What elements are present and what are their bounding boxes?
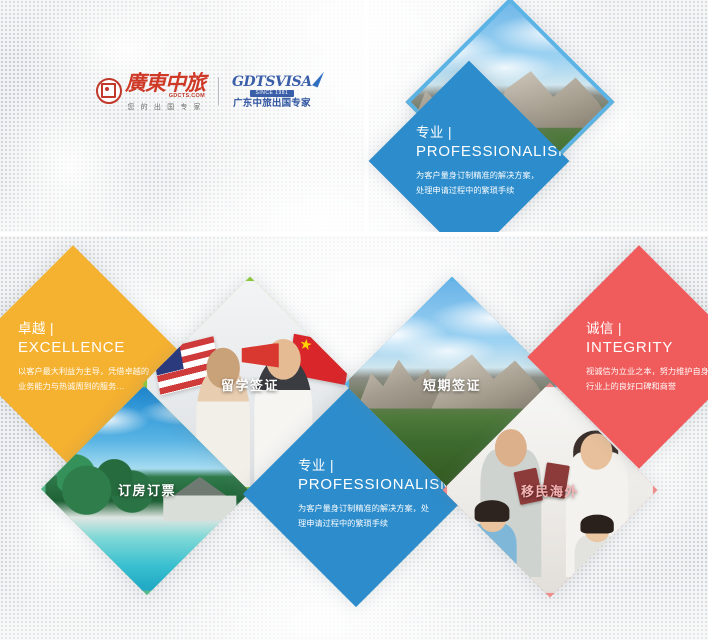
card-title-en: EXCELLENCE xyxy=(18,338,152,358)
card-title-cn: 专业 | xyxy=(298,458,334,473)
card-description: 为客户量身订制精准的解决方案，处理申请过程中的繁琐手续 xyxy=(416,168,540,198)
integrity-card-content: 诚信 | INTEGRITY 视诚信为立业之本，努力维护自身在行业上的良好口碑和… xyxy=(560,278,708,436)
card-title-en: PROFESSIONALISM xyxy=(298,475,436,495)
card-title-en: INTEGRITY xyxy=(586,338,708,358)
page-root: 廣東中旅 GDCTS.COM 您 的 出 国 专 家 GDTSVISA SINC… xyxy=(0,0,708,640)
bottom-panel: 卓越 | EXCELLENCE 以客户最大利益为主导，凭借卓越的业务能力与热诚周… xyxy=(0,236,708,640)
passport-icon-right xyxy=(541,462,569,498)
circular-red-seal-icon xyxy=(96,78,122,104)
megaphone-icon xyxy=(242,343,279,368)
guangdong-china-travel-logo[interactable]: 廣東中旅 GDCTS.COM 您 的 出 国 专 家 xyxy=(96,72,205,111)
card-title-cn: 卓越 | xyxy=(18,321,54,336)
card-title: 诚信 | INTEGRITY xyxy=(586,320,708,358)
brand-logo-lockup[interactable]: 廣東中旅 GDCTS.COM 您 的 出 国 专 家 GDTSVISA SINC… xyxy=(96,72,312,111)
logo-domain-text: GDCTS.COM xyxy=(125,94,205,100)
card-title: 专业 | PROFESSIONALISM xyxy=(416,124,540,162)
logo-separator xyxy=(218,77,219,105)
top-panel: 廣東中旅 GDCTS.COM 您 的 出 国 专 家 GDTSVISA SINC… xyxy=(0,0,708,232)
professionalism-card-top-content: 专业 | PROFESSIONALISM 为客户量身订制精准的解决方案，处理申请… xyxy=(398,90,540,232)
logo-left-text-stack: 廣東中旅 GDCTS.COM 您 的 出 国 专 家 xyxy=(125,72,205,111)
card-title: 卓越 | EXCELLENCE xyxy=(18,320,152,358)
card-description: 视诚信为立业之本，努力维护自身在行业上的良好口碑和商誉 xyxy=(586,364,708,394)
card-title-en: PROFESSIONALISM xyxy=(416,142,540,162)
card-description: 以客户最大利益为主导，凭借卓越的业务能力与热诚周到的服务… xyxy=(18,364,152,394)
logo-chinese-name: 廣東中旅 xyxy=(125,72,205,93)
card-title: 专业 | PROFESSIONALISM xyxy=(298,457,436,495)
logo-since-badge: SINCE 1981 xyxy=(250,90,295,97)
card-title-cn: 专业 | xyxy=(416,125,452,140)
logo-tagline: 您 的 出 国 专 家 xyxy=(125,104,205,111)
gdts-visa-logo[interactable]: GDTSVISA SINCE 1981 广东中旅出国专家 xyxy=(232,75,312,109)
logo-wordmark: GDTSVISA xyxy=(232,75,312,89)
card-description: 为客户量身订制精准的解决方案，处理申请过程中的繁琐手续 xyxy=(298,501,436,531)
card-title-cn: 诚信 | xyxy=(586,321,622,336)
panel-vertical-divider xyxy=(365,0,368,232)
logo-chinese-subtitle: 广东中旅出国专家 xyxy=(233,99,311,109)
world-map-background-top xyxy=(0,0,708,232)
